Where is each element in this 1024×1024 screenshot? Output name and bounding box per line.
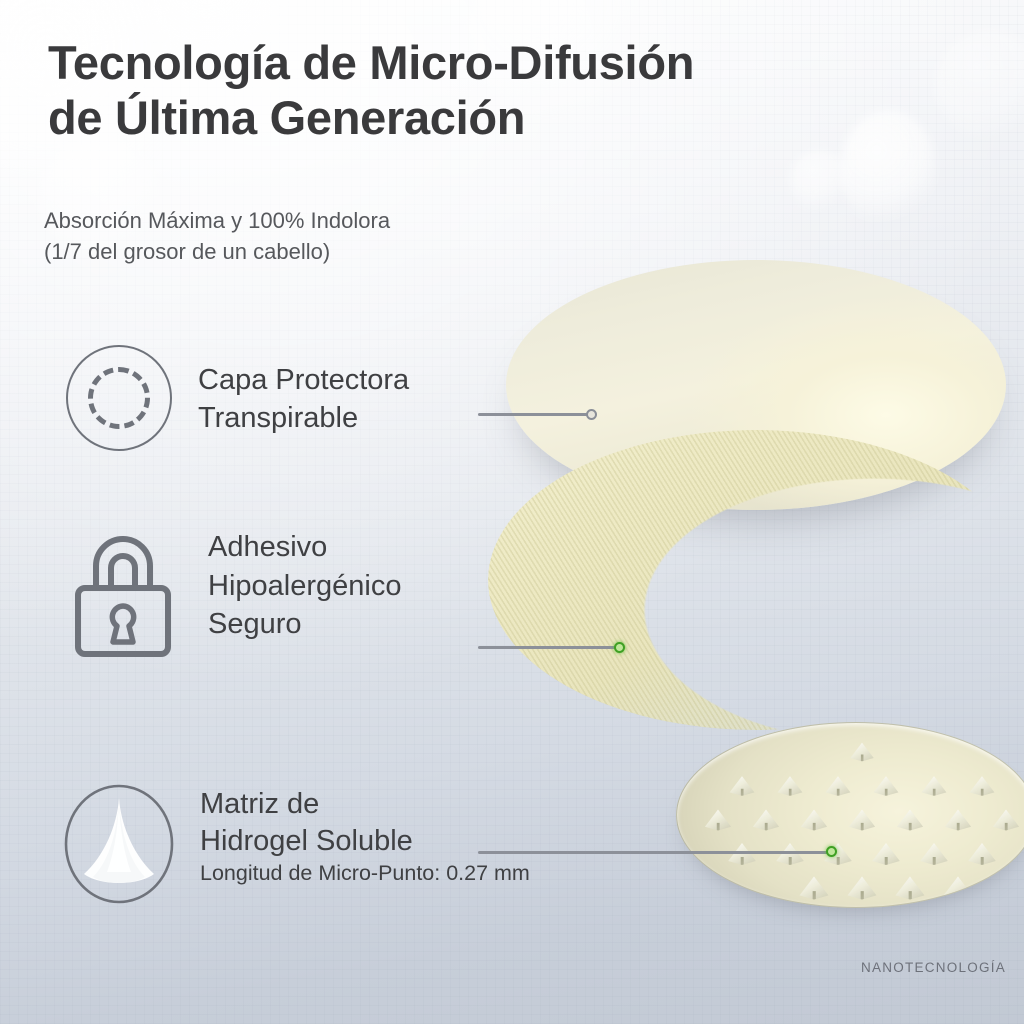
page-subtitle: Absorción Máxima y 100% Indolora (1/7 de… <box>44 205 664 267</box>
feature-3-line-2: Hidrogel Soluble <box>200 823 530 860</box>
headline-line-1: Tecnología de Micro-Difusión <box>48 36 868 91</box>
page-title: Tecnología de Micro-Difusión de Última G… <box>48 36 868 146</box>
microneedle-cone <box>848 810 877 831</box>
dashed-circle-inner <box>88 367 150 429</box>
microneedle-cone <box>921 776 948 796</box>
microneedle-cone <box>752 810 781 831</box>
leader-endpoint-2 <box>614 642 625 653</box>
microneedle-cone <box>729 776 756 796</box>
breathable-layer-icon <box>66 345 172 451</box>
feature-capa-protectora: Capa Protectora Transpirable <box>66 345 409 451</box>
leader-endpoint-1 <box>586 409 597 420</box>
bokeh-highlight <box>790 150 850 210</box>
microneedle-cone <box>992 810 1021 831</box>
feature-3-line-1: Matriz de <box>200 786 530 823</box>
feature-3-sublabel: Longitud de Micro-Punto: 0.27 mm <box>200 860 530 887</box>
microneedle-cone <box>846 876 878 899</box>
microneedle-cone <box>896 810 925 831</box>
brandmark-label: NANOTECNOLOGÍA <box>861 960 1006 975</box>
feature-1-line-1: Capa Protectora <box>198 361 409 399</box>
feature-2-line-2: Hipoalergénico <box>208 567 401 606</box>
microneedle-cone <box>942 876 974 899</box>
feature-2-line-3: Seguro <box>208 605 401 644</box>
lock-icon <box>70 532 176 660</box>
microneedle-cone <box>775 843 805 865</box>
microneedle-cone <box>919 843 949 865</box>
microneedle-cone-icon <box>60 782 178 906</box>
microneedle-cone <box>873 776 900 796</box>
microneedle-cone <box>727 843 757 865</box>
leader-line-1 <box>478 413 590 416</box>
microneedle-cone <box>798 876 830 899</box>
microneedle-cone <box>849 743 875 762</box>
microneedle-cone <box>825 776 852 796</box>
feature-1-line-2: Transpirable <box>198 399 409 437</box>
microneedle-cone <box>777 776 804 796</box>
headline-line-2: de Última Generación <box>48 91 868 146</box>
infographic-canvas: Tecnología de Micro-Difusión de Última G… <box>0 0 1024 1024</box>
bokeh-highlight <box>935 30 1024 140</box>
microneedle-cone <box>800 810 829 831</box>
product-exploded-view <box>470 250 1024 950</box>
subheadline-line-2: (1/7 del grosor de un cabello) <box>44 236 664 267</box>
product-layer-microneedle-disc <box>676 722 1024 908</box>
microneedle-cone <box>704 810 733 831</box>
microneedle-cone <box>871 843 901 865</box>
feature-matriz-hidrogel: Matriz de Hidrogel Soluble Longitud de M… <box>60 782 530 906</box>
feature-label-3: Matriz de Hidrogel Soluble Longitud de M… <box>200 786 530 887</box>
feature-2-line-1: Adhesivo <box>208 528 401 567</box>
feature-label-2: Adhesivo Hipoalergénico Seguro <box>208 528 401 644</box>
feature-adhesivo-hipoalergenico: Adhesivo Hipoalergénico Seguro <box>70 532 401 660</box>
product-layer-adhesive-ring <box>488 430 1024 730</box>
microneedle-cone <box>969 776 996 796</box>
leader-line-2 <box>478 646 620 649</box>
subheadline-line-1: Absorción Máxima y 100% Indolora <box>44 205 664 236</box>
microneedle-cone <box>944 810 973 831</box>
leader-line-3 <box>478 851 834 854</box>
feature-label-1: Capa Protectora Transpirable <box>198 361 409 438</box>
microneedle-cone <box>894 876 926 899</box>
leader-endpoint-3 <box>826 846 837 857</box>
microneedle-cone <box>967 843 997 865</box>
